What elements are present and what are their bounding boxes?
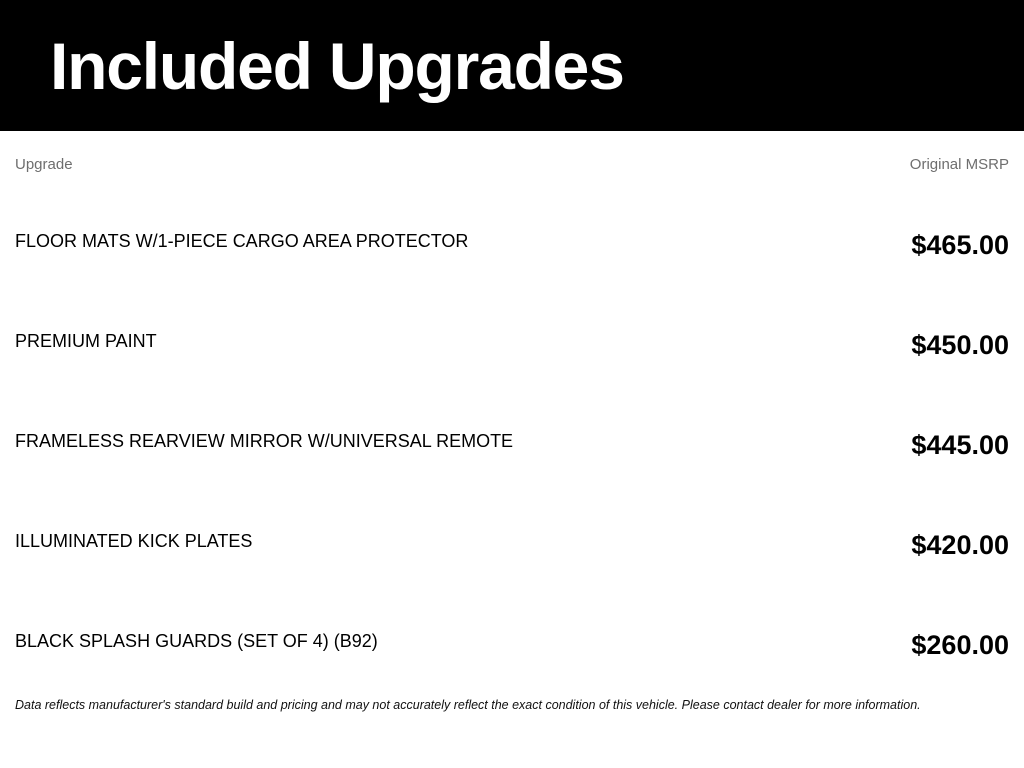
upgrade-name: FLOOR MATS W/1-PIECE CARGO AREA PROTECTO… <box>15 230 468 253</box>
page-header-banner: Included Upgrades <box>0 0 1024 131</box>
column-header-upgrade: Upgrade <box>15 156 73 174</box>
table-row: BLACK SPLASH GUARDS (SET OF 4) (B92) $26… <box>15 591 1009 691</box>
included-upgrades-page: Included Upgrades Upgrade Original MSRP … <box>0 0 1024 768</box>
disclaimer-text: Data reflects manufacturer's standard bu… <box>15 697 1009 713</box>
table-row: FLOOR MATS W/1-PIECE CARGO AREA PROTECTO… <box>15 191 1009 291</box>
upgrade-name: FRAMELESS REARVIEW MIRROR W/UNIVERSAL RE… <box>15 430 513 453</box>
page-title: Included Upgrades <box>50 33 624 99</box>
table-column-headers: Upgrade Original MSRP <box>15 131 1009 191</box>
upgrade-name: ILLUMINATED KICK PLATES <box>15 530 252 553</box>
upgrade-msrp: $445.00 <box>911 430 1009 460</box>
upgrade-msrp: $450.00 <box>911 330 1009 360</box>
upgrade-name: BLACK SPLASH GUARDS (SET OF 4) (B92) <box>15 630 378 653</box>
upgrade-msrp: $420.00 <box>911 530 1009 560</box>
upgrades-table: Upgrade Original MSRP FLOOR MATS W/1-PIE… <box>0 131 1024 691</box>
footer: Data reflects manufacturer's standard bu… <box>0 697 1024 713</box>
table-row: FRAMELESS REARVIEW MIRROR W/UNIVERSAL RE… <box>15 391 1009 491</box>
upgrade-msrp: $465.00 <box>911 230 1009 260</box>
upgrade-name: PREMIUM PAINT <box>15 330 157 353</box>
upgrade-msrp: $260.00 <box>911 630 1009 660</box>
table-row: ILLUMINATED KICK PLATES $420.00 <box>15 491 1009 591</box>
table-row: PREMIUM PAINT $450.00 <box>15 291 1009 391</box>
column-header-original-msrp: Original MSRP <box>910 156 1009 174</box>
